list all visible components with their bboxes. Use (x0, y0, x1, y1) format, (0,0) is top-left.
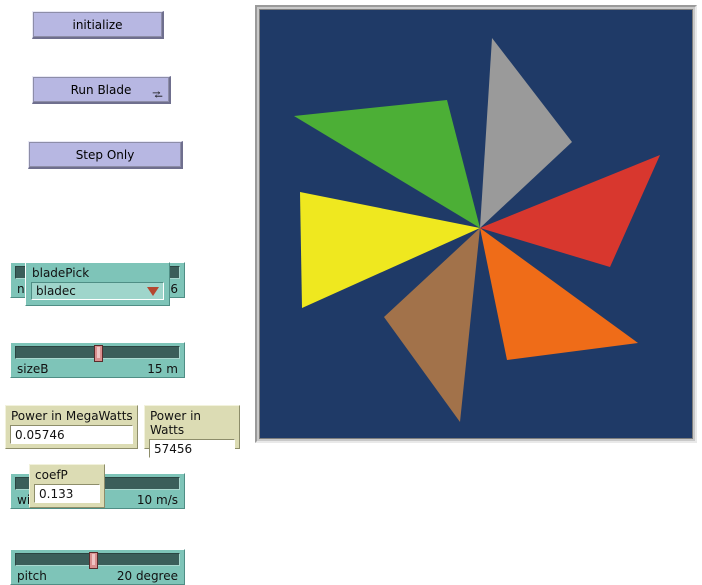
step-only-button[interactable]: Step Only (28, 141, 183, 169)
reload-icon (152, 89, 163, 100)
slider-sizeb-value: 15 m (147, 362, 178, 376)
initialize-button[interactable]: initialize (32, 11, 164, 39)
turbine-blades-svg (260, 10, 693, 439)
power-watts-title: Power in Watts (149, 408, 235, 439)
run-blade-button[interactable]: Run Blade (32, 76, 171, 104)
run-blade-button-label: Run Blade (71, 83, 132, 97)
coefp-group: coefP 0.133 (29, 464, 105, 508)
slider-pitch-handle[interactable] (89, 552, 98, 569)
slider-pitch-value: 20 degree (117, 569, 178, 583)
power-megawatts-group: Power in MegaWatts 0.05746 (5, 405, 138, 449)
step-only-button-label: Step Only (76, 148, 135, 162)
power-watts-field[interactable]: 57456 (149, 439, 235, 458)
power-watts-group: Power in Watts 57456 (144, 405, 240, 449)
power-megawatts-title: Power in MegaWatts (10, 408, 133, 425)
initialize-button-label: initialize (72, 18, 122, 32)
bladepick-title: bladePick (31, 265, 164, 282)
bladepick-selected-value: bladec (36, 284, 76, 298)
turbine-canvas[interactable] (259, 9, 693, 439)
slider-sizeb-handle[interactable] (94, 345, 103, 362)
slider-sizeb-track[interactable] (15, 346, 180, 359)
slider-windspeed-value: 10 m/s (137, 493, 178, 507)
turbine-canvas-frame (255, 5, 697, 443)
slider-pitch-label: pitch (17, 569, 47, 583)
slider-sizeb-label: sizeB (17, 362, 49, 376)
slider-pitch-track[interactable] (15, 553, 180, 566)
power-megawatts-field[interactable]: 0.05746 (10, 425, 133, 444)
bladepick-select[interactable]: bladec (31, 282, 164, 300)
bladepick-group: bladePick bladec (25, 262, 170, 306)
slider-numblade-value: 6 (170, 282, 178, 296)
chevron-down-icon[interactable] (147, 287, 159, 296)
coefp-field[interactable]: 0.133 (34, 484, 100, 503)
coefp-title: coefP (34, 467, 100, 484)
slider-sizeb[interactable]: sizeB 15 m (10, 342, 185, 378)
slider-pitch[interactable]: pitch 20 degree (10, 549, 185, 585)
